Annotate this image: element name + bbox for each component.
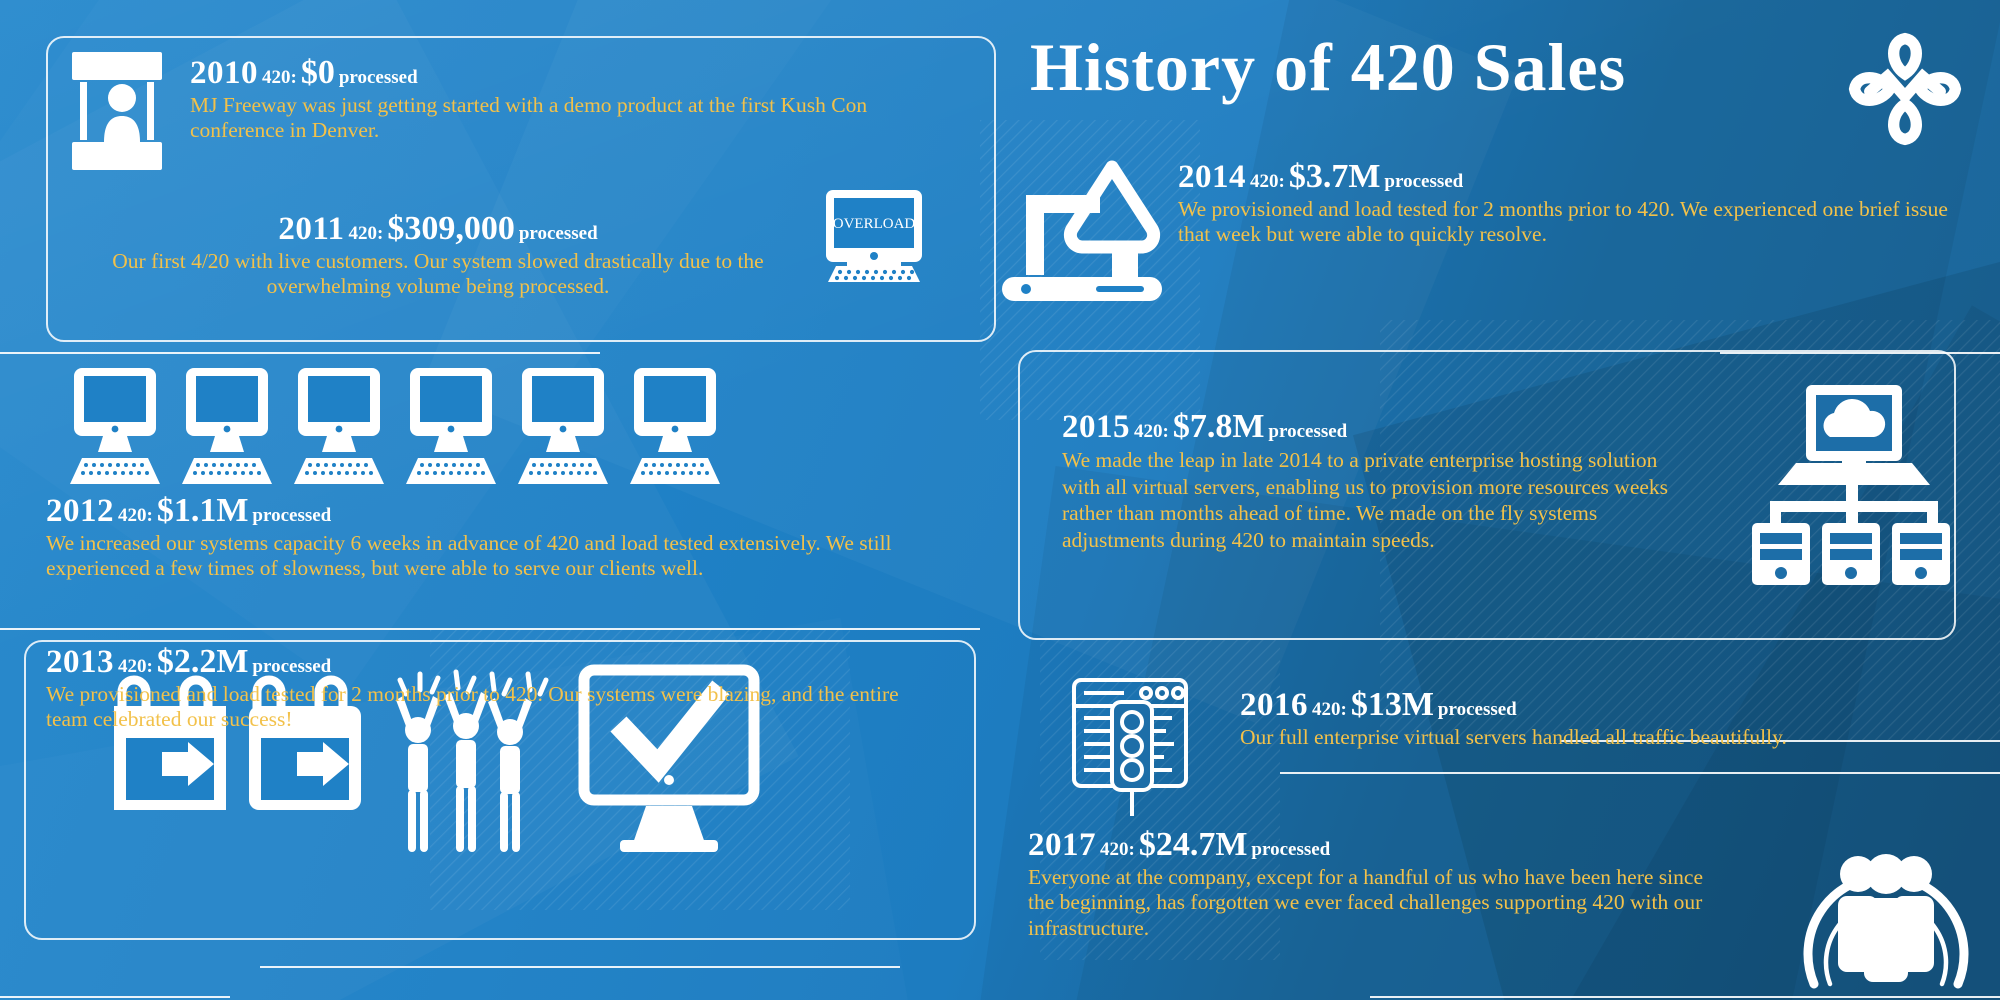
entry-2011-body: Our first 4/20 with live customers. Our … [88,249,788,300]
entry-2014: 2014 420: $3.7M processed We provisioned… [1178,160,1968,248]
entry-2015-body: We made the leap in late 2014 to a priva… [1062,447,1672,554]
entry-2012: 2012 420: $1.1M processed We increased o… [46,494,966,582]
overload-monitor-icon: OVERLOAD [812,190,942,300]
ticket-booth-icon [62,50,172,170]
entry-2017-body: Everyone at the company, except for a ha… [1028,865,1718,941]
entry-2017-amount: $24.7M [1139,826,1248,863]
entry-2010-year: 2010 [190,55,258,91]
entry-2017: 2017 420: $24.7M processed Everyone at t… [1028,828,1768,941]
entry-2013-amount: $2.2M [157,643,249,680]
entry-2014-tag: 420: [1250,171,1285,192]
entry-2013-year: 2013 [46,644,114,680]
entry-2011-headline: 2011 420: $309,000 processed [78,212,798,246]
entry-2015: 2015 420: $7.8M processed We made the le… [1062,410,1692,554]
entry-2017-tag: 420: [1100,839,1135,860]
entry-2016: 2016 420: $13M processed Our full enterp… [1240,688,1980,750]
entry-2016-year: 2016 [1240,687,1308,723]
entry-2010: 2010 420: $0 processed MJ Freeway was ju… [190,56,890,144]
accent-rule [1370,996,2000,998]
page-title: History of 420 Sales [1030,28,1860,107]
overload-screen-label: OVERLOAD [833,216,916,232]
mjfreeway-knot-logo [1842,26,1968,152]
entry-2014-processed: processed [1384,171,1463,192]
three-people-arcs-icon [1786,812,1986,992]
entry-2012-headline: 2012 420: $1.1M processed [46,494,966,528]
entry-2017-year: 2017 [1028,827,1096,863]
accent-rule [0,352,600,354]
entry-2014-body: We provisioned and load tested for 2 mon… [1178,197,1978,248]
six-desktop-computers-icon [70,368,730,493]
entry-2012-processed: processed [252,505,331,526]
entry-2016-tag: 420: [1312,699,1347,720]
entry-2013-headline: 2013 420: $2.2M processed [46,645,966,679]
entry-2012-amount: $1.1M [157,492,249,529]
laptop-warning-triangle-icon [1000,155,1160,305]
accent-rule [0,996,230,998]
entry-2013-body: We provisioned and load tested for 2 mon… [46,682,936,733]
entry-2014-year: 2014 [1178,159,1246,195]
accent-rule [260,966,900,968]
entry-2015-headline: 2015 420: $7.8M processed [1062,410,1692,444]
entry-2012-tag: 420: [118,505,153,526]
entry-2010-body: MJ Freeway was just getting started with… [190,93,890,144]
entry-2011: 2011 420: $309,000 processed Our first 4… [78,212,798,300]
accent-rule [0,628,980,630]
entry-2013: 2013 420: $2.2M processed We provisioned… [46,645,966,733]
entry-2010-tag: 420: [262,67,297,88]
entry-2016-body: Our full enterprise virtual servers hand… [1240,725,1980,750]
entry-2010-amount: $0 [301,54,335,91]
entry-2017-processed: processed [1251,839,1330,860]
entry-2016-processed: processed [1438,699,1517,720]
entry-2011-processed: processed [519,223,598,244]
accent-rule [1280,772,2000,774]
entry-2016-amount: $13M [1351,686,1434,723]
entry-2012-body: We increased our systems capacity 6 week… [46,531,951,582]
entry-2013-processed: processed [252,656,331,677]
entry-2010-headline: 2010 420: $0 processed [190,56,890,90]
entry-2014-amount: $3.7M [1289,158,1381,195]
entry-2015-tag: 420: [1134,421,1169,442]
entry-2015-processed: processed [1268,421,1347,442]
entry-2011-year: 2011 [278,211,344,247]
entry-2015-amount: $7.8M [1173,408,1265,445]
entry-2015-year: 2015 [1062,409,1130,445]
entry-2014-headline: 2014 420: $3.7M processed [1178,160,1968,194]
entry-2016-headline: 2016 420: $13M processed [1240,688,1980,722]
infographic-canvas: History of 420 Sales 2010 [0,0,2000,1000]
entry-2011-tag: 420: [349,223,384,244]
entry-2011-amount: $309,000 [387,210,515,247]
entry-2010-processed: processed [339,67,418,88]
browser-traffic-light-icon [1068,676,1198,836]
entry-2017-headline: 2017 420: $24.7M processed [1028,828,1768,862]
accent-rule [1720,352,2000,354]
entry-2012-year: 2012 [46,493,114,529]
cloud-laptop-servers-icon [1750,385,1950,585]
entry-2013-tag: 420: [118,656,153,677]
